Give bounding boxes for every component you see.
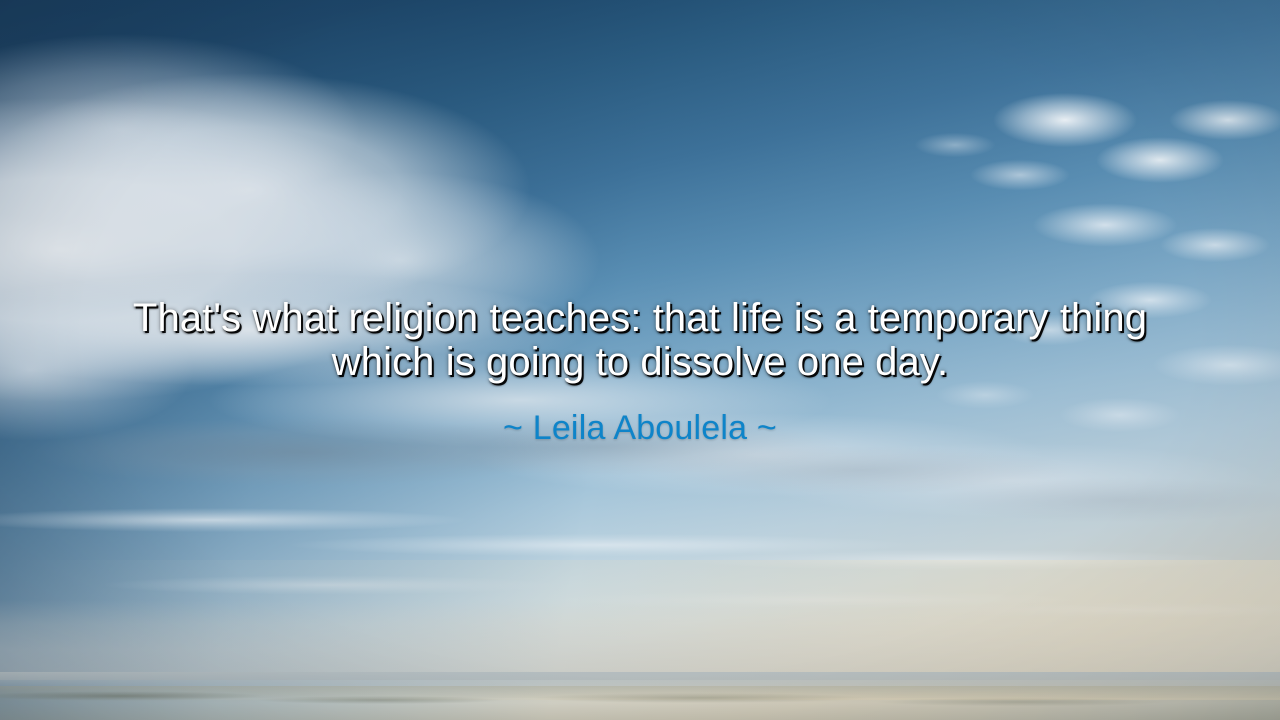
quote-author: ~ Leila Aboulela ~ [190,408,1090,448]
quote-card: That's what religion teaches: that life … [0,0,1280,720]
quote-text: That's what religion teaches: that life … [120,296,1160,384]
text-overlay: That's what religion teaches: that life … [0,0,1280,720]
